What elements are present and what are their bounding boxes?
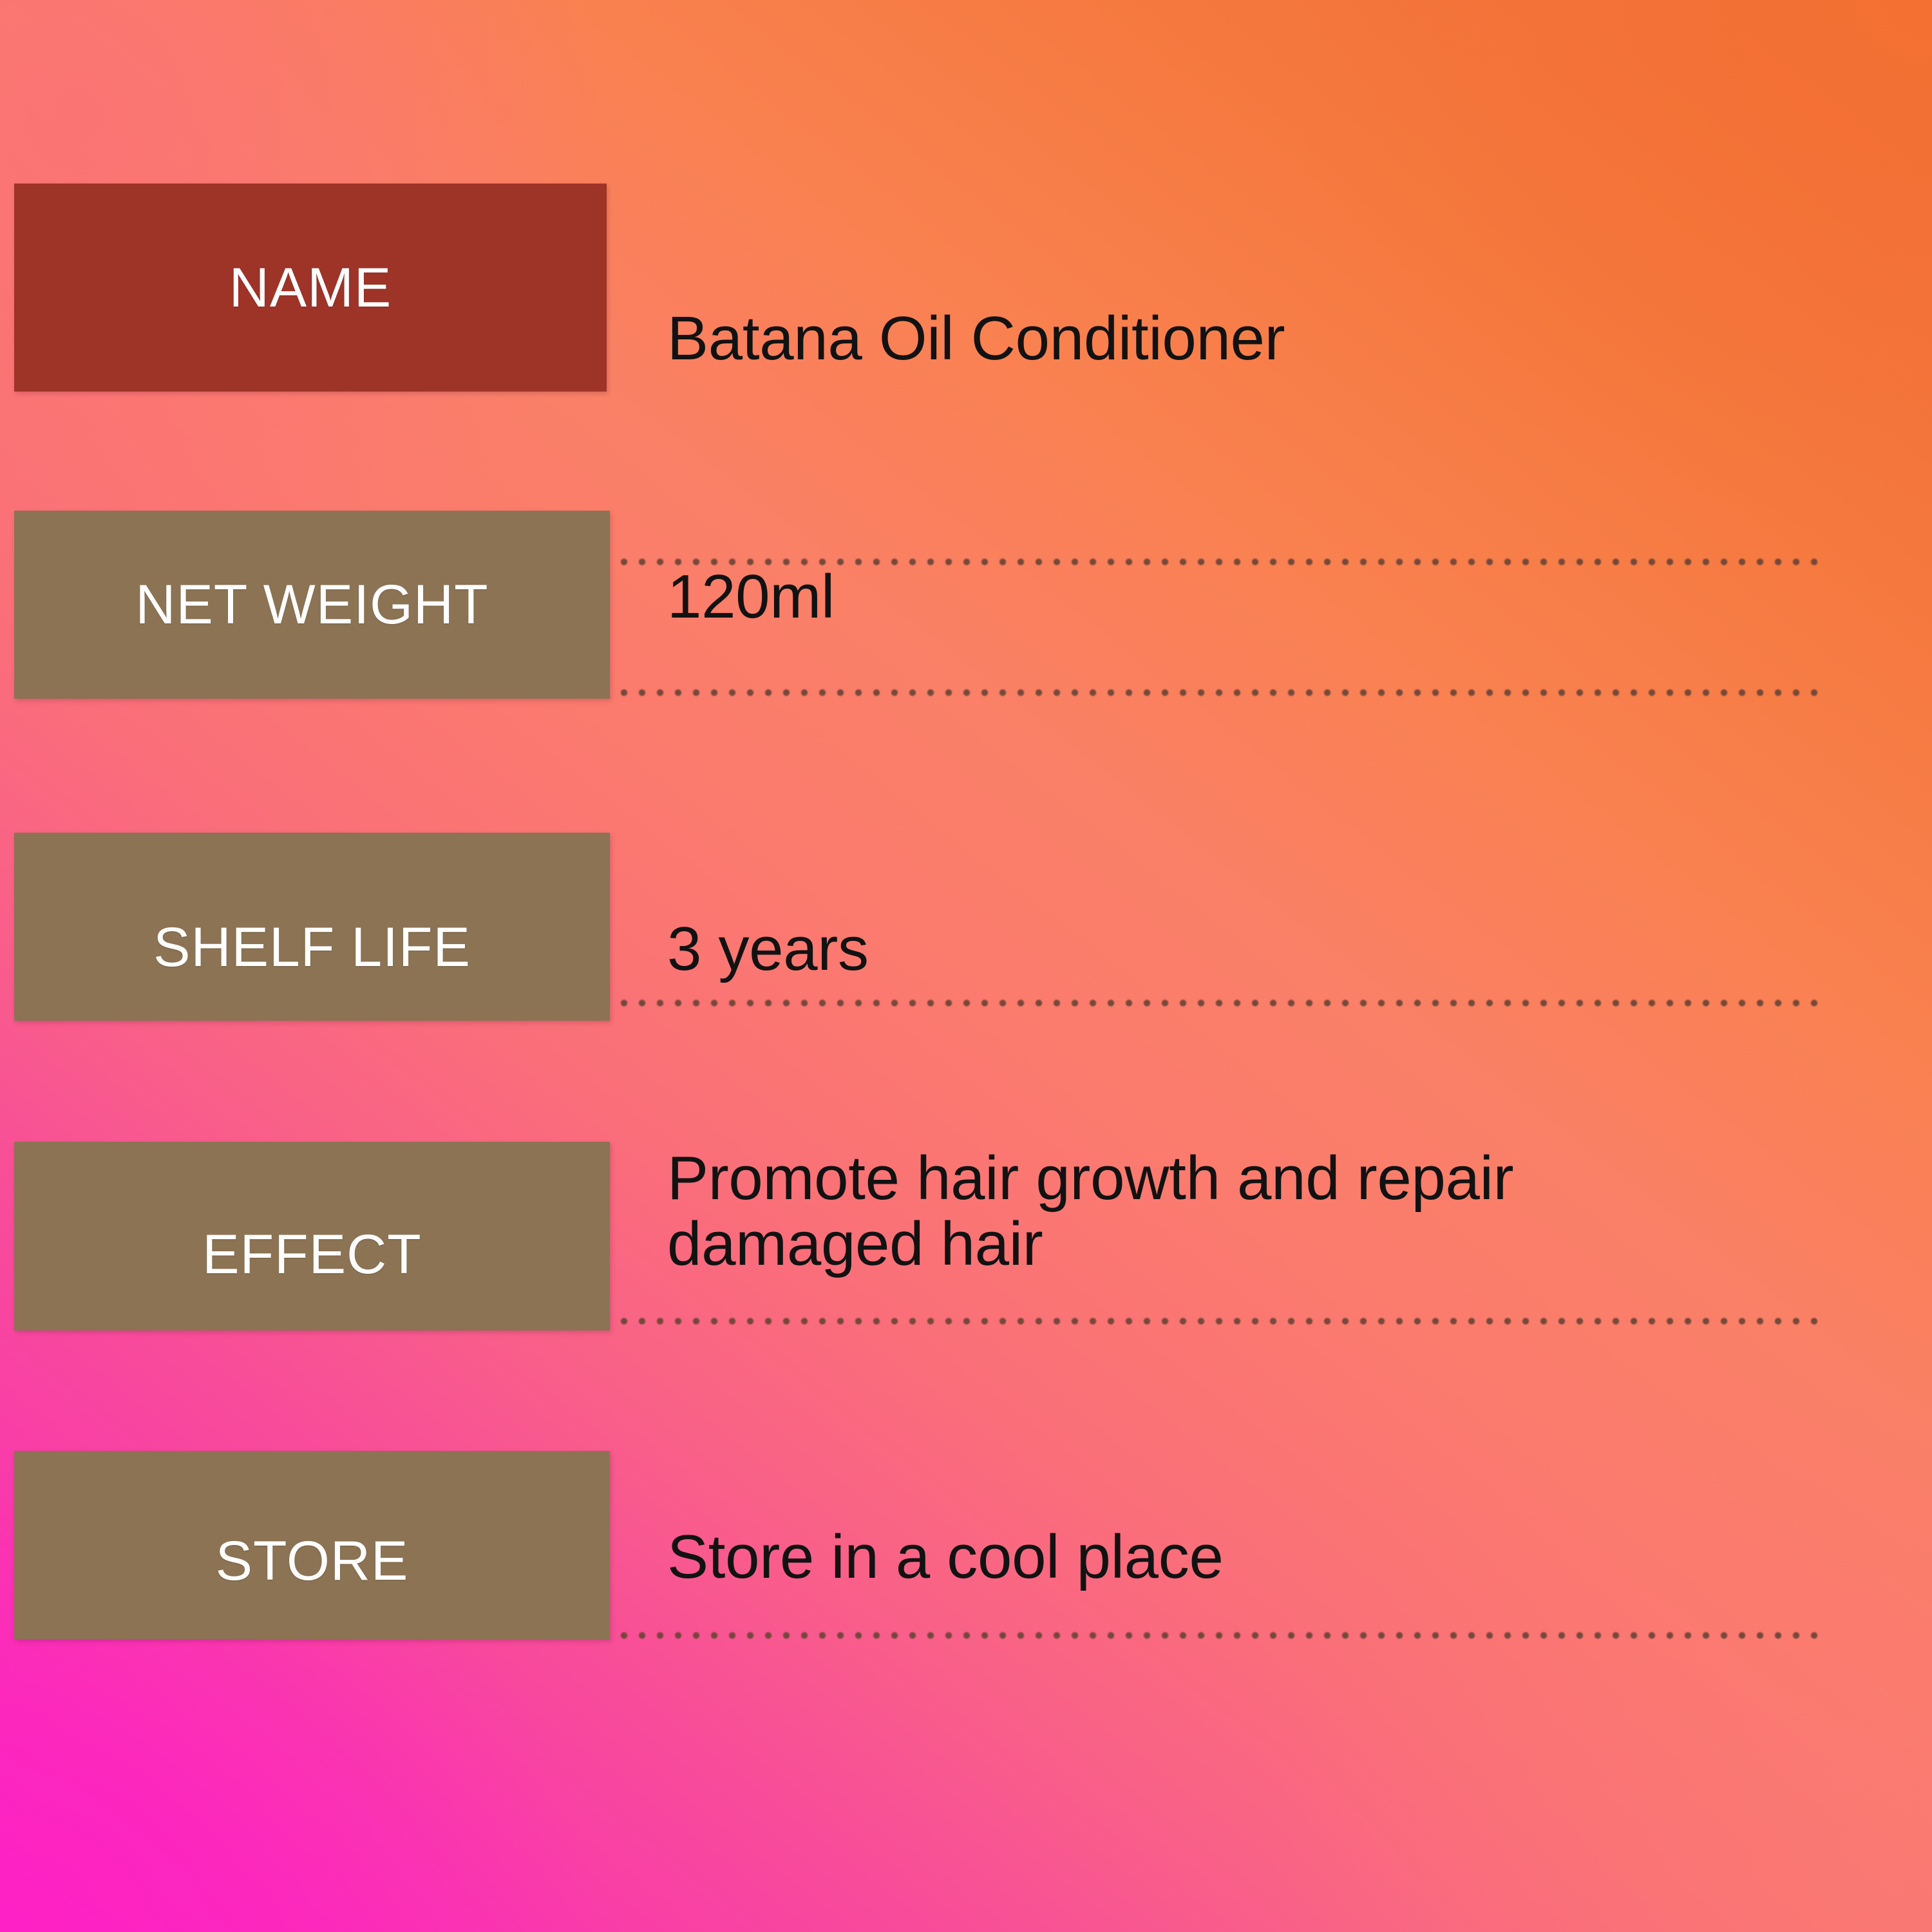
- spec-row-shelf-life: SHELF LIFE 3 years: [0, 833, 1932, 1026]
- dotted-rule-net-weight: [615, 688, 1826, 697]
- spec-label-box-name: NAME: [14, 184, 607, 392]
- spec-value-shelf-life: 3 years: [667, 916, 869, 982]
- spec-row-store: STORE Store in a cool place: [0, 1451, 1932, 1657]
- dotted-rule-store: [615, 1631, 1826, 1640]
- spec-label-shelf-life: SHELF LIFE: [153, 920, 471, 975]
- spec-value-name: Batana Oil Conditioner: [667, 306, 1285, 372]
- spec-row-name: NAME Batana Oil Conditioner: [0, 184, 1932, 396]
- spec-label-box-store: STORE: [14, 1451, 610, 1640]
- spec-value-net-weight: 120ml: [667, 564, 835, 630]
- spec-label-name: NAME: [229, 260, 392, 316]
- spec-value-effect: Promote hair growth and repair damaged h…: [667, 1146, 1891, 1277]
- spec-label-store: STORE: [216, 1533, 409, 1589]
- spec-label-net-weight: NET WEIGHT: [135, 577, 488, 632]
- spec-value-store: Store in a cool place: [667, 1524, 1224, 1590]
- spec-label-box-net-weight: NET WEIGHT: [14, 511, 610, 699]
- dotted-rule-shelf-life: [615, 999, 1826, 1007]
- spec-row-list: NAME Batana Oil Conditioner NET WEIGHT 1…: [0, 0, 1932, 1932]
- spec-label-box-effect: EFFECT: [14, 1142, 610, 1331]
- dotted-rule-effect: [615, 1317, 1826, 1325]
- product-spec-card: NAME Batana Oil Conditioner NET WEIGHT 1…: [0, 0, 1932, 1932]
- spec-label-effect: EFFECT: [202, 1227, 421, 1282]
- spec-label-box-shelf-life: SHELF LIFE: [14, 833, 610, 1021]
- spec-row-net-weight: NET WEIGHT 120ml: [0, 511, 1932, 704]
- spec-row-effect: EFFECT Promote hair growth and repair da…: [0, 1142, 1932, 1348]
